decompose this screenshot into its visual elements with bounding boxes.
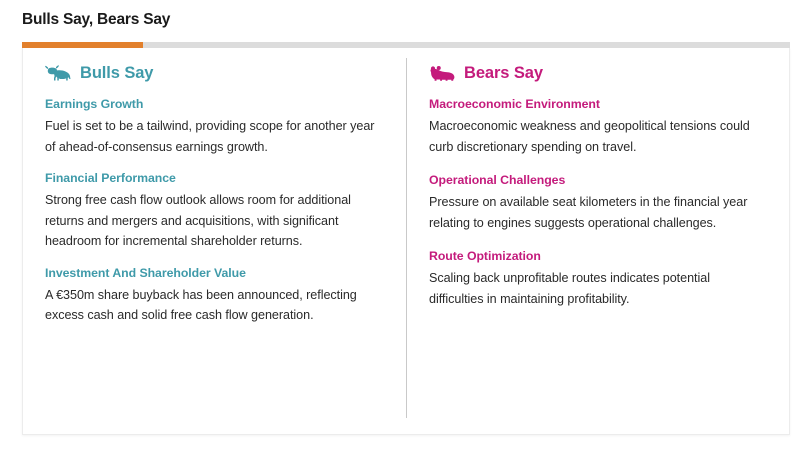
point-body: Fuel is set to be a tailwind, providing … xyxy=(45,116,384,157)
columns-container: Bulls Say Earnings Growth Fuel is set to… xyxy=(23,48,789,434)
bears-point: Macroeconomic Environment Macroeconomic … xyxy=(429,96,765,157)
point-title: Financial Performance xyxy=(45,170,384,186)
bulls-heading: Bulls Say xyxy=(45,64,384,82)
point-body: A €350m share buyback has been announced… xyxy=(45,285,384,326)
bulls-column: Bulls Say Earnings Growth Fuel is set to… xyxy=(23,48,406,434)
content-card: Bulls Say Earnings Growth Fuel is set to… xyxy=(22,48,790,435)
bull-icon xyxy=(45,64,71,82)
page-title: Bulls Say, Bears Say xyxy=(22,10,170,30)
bears-heading-label: Bears Say xyxy=(464,64,543,82)
point-title: Earnings Growth xyxy=(45,96,384,112)
bulls-bears-panel: Bulls Say, Bears Say xyxy=(0,0,810,457)
bears-point: Route Optimization Scaling back unprofit… xyxy=(429,248,765,309)
bear-icon xyxy=(429,64,455,82)
bulls-heading-label: Bulls Say xyxy=(80,64,153,82)
point-title: Route Optimization xyxy=(429,248,765,264)
point-title: Macroeconomic Environment xyxy=(429,96,765,112)
point-body: Macroeconomic weakness and geopolitical … xyxy=(429,116,765,157)
point-body: Scaling back unprofitable routes indicat… xyxy=(429,268,765,309)
bears-column: Bears Say Macroeconomic Environment Macr… xyxy=(407,48,789,434)
point-title: Investment And Shareholder Value xyxy=(45,265,384,281)
bulls-point: Financial Performance Strong free cash f… xyxy=(45,170,384,252)
point-body: Strong free cash flow outlook allows roo… xyxy=(45,190,384,252)
bulls-point: Earnings Growth Fuel is set to be a tail… xyxy=(45,96,384,157)
point-body: Pressure on available seat kilometers in… xyxy=(429,192,765,233)
bears-point: Operational Challenges Pressure on avail… xyxy=(429,172,765,233)
point-title: Operational Challenges xyxy=(429,172,765,188)
bears-heading: Bears Say xyxy=(429,64,765,82)
bulls-point: Investment And Shareholder Value A €350m… xyxy=(45,265,384,326)
